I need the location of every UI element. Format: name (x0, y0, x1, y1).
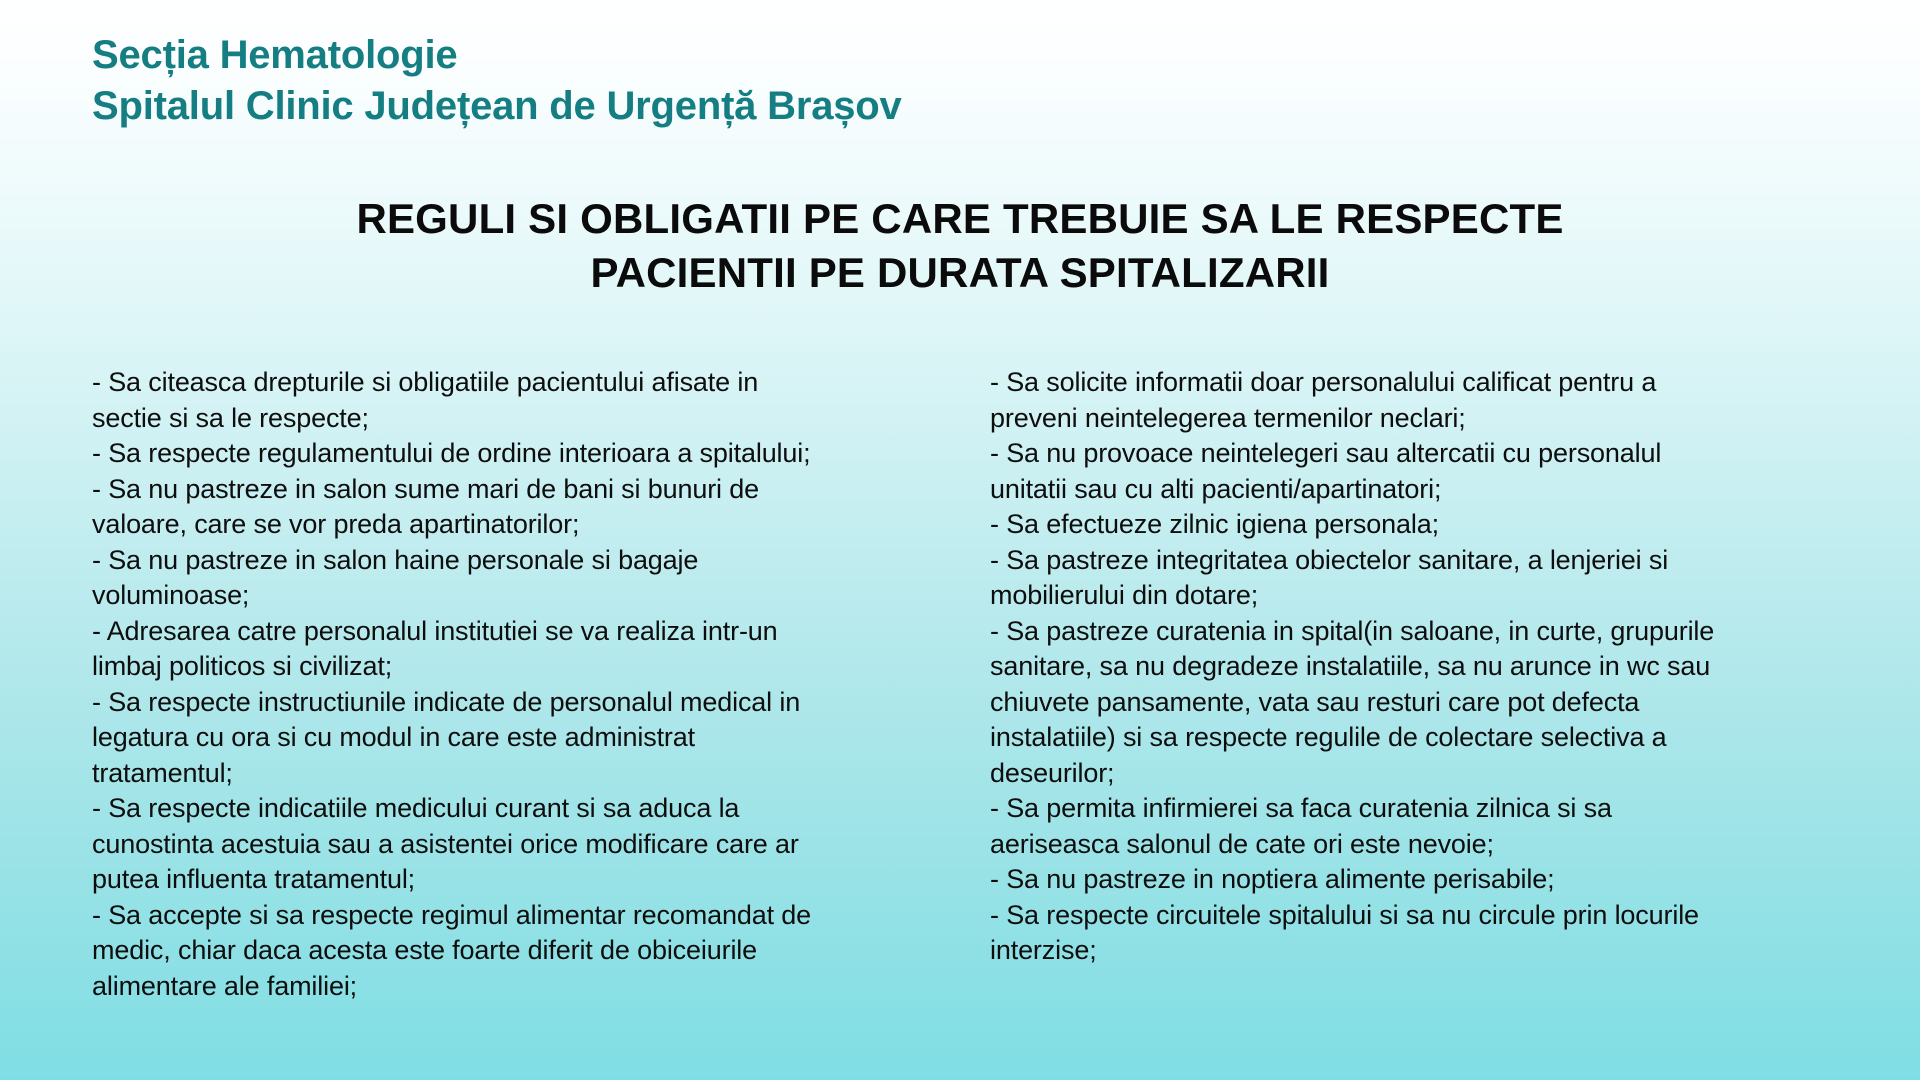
rule-line: - Sa nu pastreze in noptiera alimente pe… (990, 862, 1880, 898)
page-title-line-2: PACIENTII PE DURATA SPITALIZARII (0, 246, 1920, 300)
rule-line: - Adresarea catre personalul institutiei… (92, 614, 880, 650)
rule-line: sectie si sa le respecte; (92, 401, 880, 437)
header-hospital-line: Spitalul Clinic Județean de Urgență Braș… (92, 81, 1392, 132)
header-department-line: Secția Hematologie (92, 30, 1392, 81)
rule-line: cunostinta acestuia sau a asistentei ori… (92, 827, 880, 863)
page-title-line-1: REGULI SI OBLIGATII PE CARE TREBUIE SA L… (0, 192, 1920, 246)
rule-line: unitatii sau cu alti pacienti/apartinato… (990, 472, 1880, 508)
rule-line: aeriseasca salonul de cate ori este nevo… (990, 827, 1880, 863)
rule-line: - Sa efectueze zilnic igiena personala; (990, 507, 1880, 543)
rule-line: limbaj politicos si civilizat; (92, 649, 880, 685)
rule-line: - Sa pastreze curatenia in spital(in sal… (990, 614, 1880, 650)
institution-header: Secția Hematologie Spitalul Clinic Județ… (92, 30, 1392, 132)
rules-column-left: - Sa citeasca drepturile si obligatiile … (0, 365, 900, 1004)
rule-line: chiuvete pansamente, vata sau resturi ca… (990, 685, 1880, 721)
rule-line: tratamentul; (92, 756, 880, 792)
rule-line: - Sa accepte si sa respecte regimul alim… (92, 898, 880, 934)
rule-line: sanitare, sa nu degradeze instalatiile, … (990, 649, 1880, 685)
rule-line: legatura cu ora si cu modul in care este… (92, 720, 880, 756)
slide-root: Secția Hematologie Spitalul Clinic Județ… (0, 0, 1920, 1080)
rule-line: - Sa pastreze integritatea obiectelor sa… (990, 543, 1880, 579)
rule-line: putea influenta tratamentul; (92, 862, 880, 898)
rule-line: - Sa respecte regulamentului de ordine i… (92, 436, 880, 472)
rule-line: - Sa nu pastreze in salon sume mari de b… (92, 472, 880, 508)
rule-line: - Sa respecte circuitele spitalului si s… (990, 898, 1880, 934)
rule-line: - Sa nu pastreze in salon haine personal… (92, 543, 880, 579)
rule-line: medic, chiar daca acesta este foarte dif… (92, 933, 880, 969)
rule-line: deseurilor; (990, 756, 1880, 792)
rules-column-right: - Sa solicite informatii doar personalul… (900, 365, 1920, 969)
rule-line: instalatiile) si sa respecte regulile de… (990, 720, 1880, 756)
rule-line: - Sa permita infirmierei sa faca curaten… (990, 791, 1880, 827)
rule-line: - Sa respecte instructiunile indicate de… (92, 685, 880, 721)
rule-line: mobilierului din dotare; (990, 578, 1880, 614)
rule-line: alimentare ale familiei; (92, 969, 880, 1005)
rule-line: interzise; (990, 933, 1880, 969)
rule-line: - Sa solicite informatii doar personalul… (990, 365, 1880, 401)
rule-line: valoare, care se vor preda apartinatoril… (92, 507, 880, 543)
rules-columns: - Sa citeasca drepturile si obligatiile … (0, 365, 1920, 1045)
rule-line: - Sa respecte indicatiile medicului cura… (92, 791, 880, 827)
rule-line: preveni neintelegerea termenilor neclari… (990, 401, 1880, 437)
rule-line: voluminoase; (92, 578, 880, 614)
rule-line: - Sa citeasca drepturile si obligatiile … (92, 365, 880, 401)
page-title: REGULI SI OBLIGATII PE CARE TREBUIE SA L… (0, 192, 1920, 300)
rule-line: - Sa nu provoace neintelegeri sau alterc… (990, 436, 1880, 472)
